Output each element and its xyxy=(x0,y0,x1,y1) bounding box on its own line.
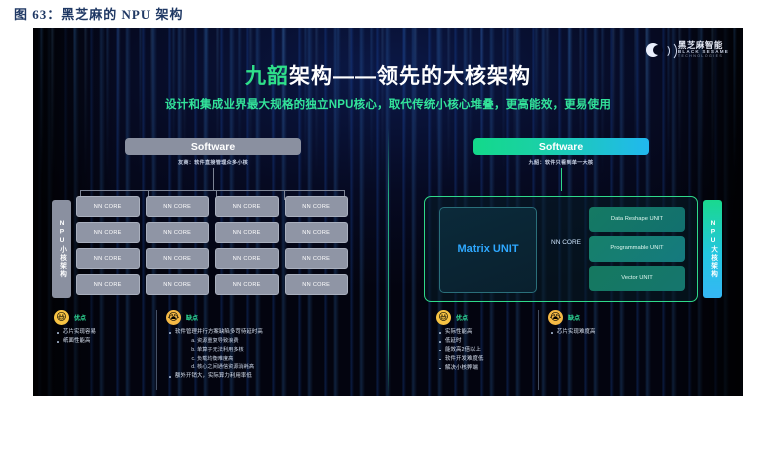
logo-text-en2: TECHNOLOGIES xyxy=(678,55,729,59)
bullet-item: 额外开销大，实际算力利用率低 xyxy=(175,372,371,381)
nn-core-cell: NN CORE xyxy=(146,274,210,295)
nn-core-cell: NN CORE xyxy=(146,248,210,269)
left-trunk-line xyxy=(213,168,214,191)
right-software-note: 九韶：软件只看到单一大核 xyxy=(529,159,594,166)
nn-core-cell: NN CORE xyxy=(215,222,279,243)
left-npu-side-label: NPU小核架构 xyxy=(52,200,71,298)
right-npu-side-label: NPU大核架构 xyxy=(703,200,722,298)
right-pros-block: 😃 优点 实际性能高低延时能效高2倍以上软件开发难度低解决小核弊端 xyxy=(436,310,531,373)
figure-caption: 图 63：黑芝麻的 NPU 架构 xyxy=(14,4,183,23)
happy-face-icon: 😃 xyxy=(54,310,69,325)
right-cons-title: 缺点 xyxy=(568,313,580,322)
nn-core-cell: NN CORE xyxy=(76,248,140,269)
nn-core-cell: NN CORE xyxy=(215,196,279,217)
slide-title-highlight: 九韶 xyxy=(245,65,289,88)
bullet-item: 能效高2倍以上 xyxy=(445,346,531,355)
bullet-item: 纸面性能高 xyxy=(63,337,150,346)
left-cons-block: 😭 缺点 软件管理并行方案缺陷多苛待延时高资源重复导致浪费单算子无法利用多核负载… xyxy=(166,310,371,381)
nn-core-cell: NN CORE xyxy=(76,222,140,243)
nn-core-cell: NN CORE xyxy=(285,196,349,217)
black-sesame-logo-icon xyxy=(646,41,672,59)
left-cons-title: 缺点 xyxy=(186,313,198,322)
sub-bullet-list: 资源重复导致浪费单算子无法利用多核负载均衡难度高核心之间通信资源消耗高 xyxy=(175,337,371,372)
bullet-item: 芯片实现容易 xyxy=(63,328,150,337)
right-panel: Software 九韶：软件只看到单一大核 NPU大核架构 Matrix UNI… xyxy=(396,128,726,396)
sub-unit-3: Vector UNIT xyxy=(589,266,685,291)
left-pros-block: 😃 优点 芯片实现容易纸面性能高 xyxy=(54,310,150,346)
page-root: 图 63：黑芝麻的 NPU 架构 黑芝麻智能 BLACK SESAME TECH… xyxy=(0,0,776,459)
nn-core-cell: NN CORE xyxy=(76,274,140,295)
sad-face-icon: 😭 xyxy=(548,310,563,325)
sub-unit-2: Programmable UNIT xyxy=(589,236,685,261)
nn-core-cell: NN CORE xyxy=(146,222,210,243)
right-trunk-line xyxy=(561,168,562,191)
nn-core-cell: NN CORE xyxy=(146,196,210,217)
bullet-item: 软件管理并行方案缺陷多苛待延时高 xyxy=(175,328,371,337)
left-npu-side-text: NPU小核架构 xyxy=(57,220,67,279)
panel-divider xyxy=(388,128,389,396)
left-software-note: 友商：软件直接管理众多小核 xyxy=(178,159,248,166)
nn-core-cell: NN CORE xyxy=(285,248,349,269)
slide-title-rest: 架构——领先的大核架构 xyxy=(289,65,531,88)
sub-bullet-item: 负载均衡难度高 xyxy=(197,355,371,364)
slide-image: 黑芝麻智能 BLACK SESAME TECHNOLOGIES 九韶架构——领先… xyxy=(33,28,743,396)
sub-unit-list: Data Reshape UNITProgrammable UNITVector… xyxy=(589,207,685,291)
bullet-item: 软件开发难度低 xyxy=(445,355,531,364)
sub-bullet-item: 资源重复导致浪费 xyxy=(197,337,371,346)
left-bullets: 😃 优点 芯片实现容易纸面性能高 😭 缺点 软件管理并行方案缺陷多苛待延时高资源… xyxy=(48,310,378,396)
bullet-item: 芯片实现难度高 xyxy=(557,328,688,337)
nn-core-grid: NN CORENN CORENN CORENN CORENN CORENN CO… xyxy=(76,196,348,295)
nn-core-cell: NN CORE xyxy=(215,248,279,269)
nn-core-cell: NN CORE xyxy=(285,274,349,295)
sad-face-icon: 😭 xyxy=(166,310,181,325)
matrix-unit-block: Matrix UNIT xyxy=(439,207,537,293)
right-cons-block: 😭 缺点 芯片实现难度高 xyxy=(548,310,688,337)
left-horizontal-bus xyxy=(80,190,344,191)
slide-title: 九韶架构——领先的大核架构 xyxy=(33,60,743,90)
nn-core-cell: NN CORE xyxy=(215,274,279,295)
sub-bullet-item: 单算子无法利用多核 xyxy=(197,346,371,355)
right-nn-core-label: NN CORE xyxy=(545,239,587,247)
bullet-item: 低延时 xyxy=(445,337,531,346)
nn-core-cell: NN CORE xyxy=(76,196,140,217)
right-bullets: 😃 优点 实际性能高低延时能效高2倍以上软件开发难度低解决小核弊端 😭 缺点 芯… xyxy=(396,310,726,396)
right-pros-title: 优点 xyxy=(456,313,468,322)
big-core-block: Matrix UNIT NN CORE Data Reshape UNITPro… xyxy=(424,196,698,302)
left-software-bar: Software xyxy=(125,138,301,155)
happy-face-icon: 😃 xyxy=(436,310,451,325)
sub-unit-1: Data Reshape UNIT xyxy=(589,207,685,232)
slide-subtitle: 设计和集成业界最大规格的独立NPU核心，取代传统小核心堆叠，更高能效，更易使用 xyxy=(33,96,743,112)
right-software-bar: Software xyxy=(473,138,649,155)
left-pros-title: 优点 xyxy=(74,313,86,322)
right-npu-side-text: NPU大核架构 xyxy=(708,220,718,279)
sub-bullet-item: 核心之间通信资源消耗高 xyxy=(197,363,371,372)
bullet-item: 解决小核弊端 xyxy=(445,364,531,373)
brand-logo: 黑芝麻智能 BLACK SESAME TECHNOLOGIES xyxy=(646,41,729,59)
left-panel: Software 友商：软件直接管理众多小核 NPU小核架构 NN CORENN… xyxy=(48,128,378,396)
bullet-item: 实际性能高 xyxy=(445,328,531,337)
nn-core-cell: NN CORE xyxy=(285,222,349,243)
